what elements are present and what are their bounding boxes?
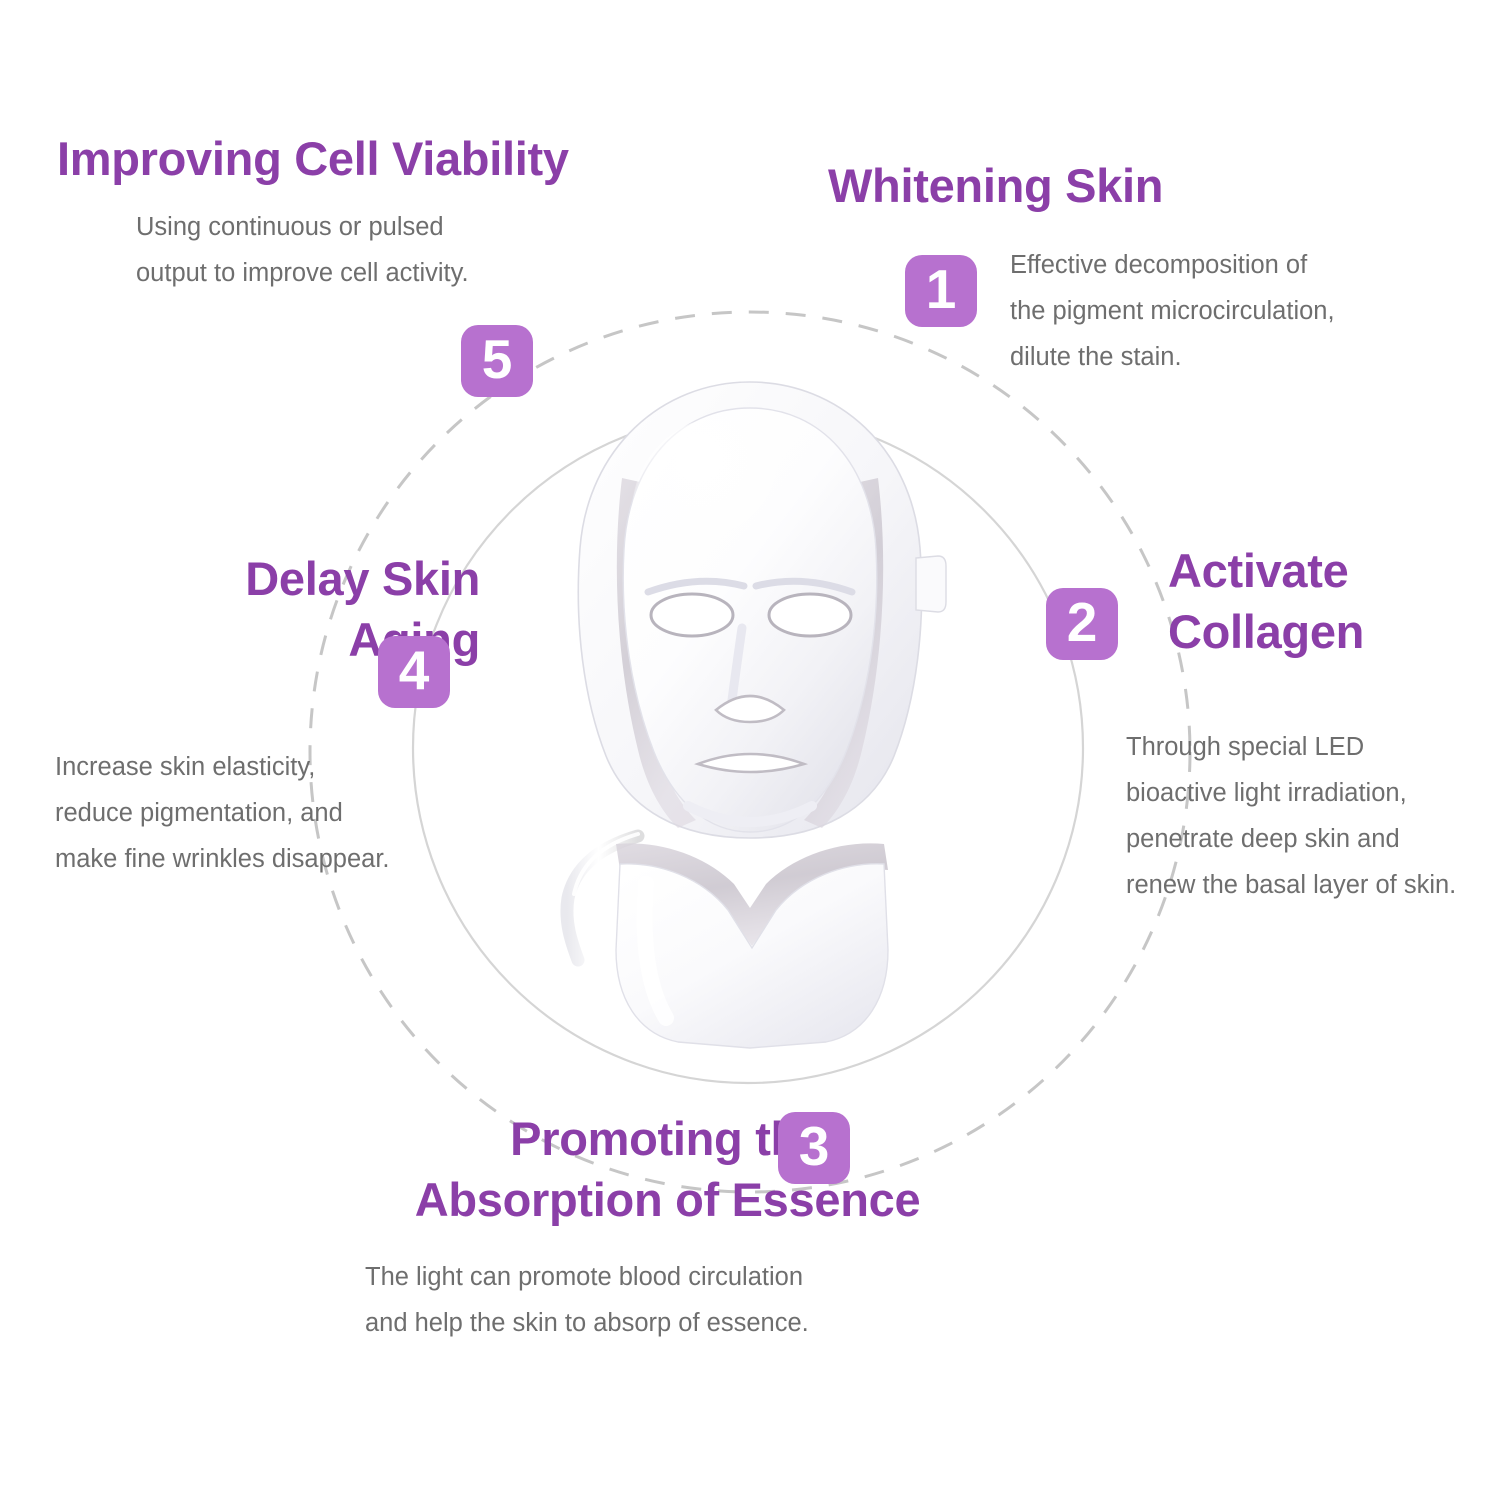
feature-title-promoting-absorption-of-essence: Promoting the Absorption of Essence <box>330 1108 1005 1230</box>
feature-body-activate-collagen: Through special LED bioactive light irra… <box>1126 725 1456 909</box>
feature-badge-5: 5 <box>461 325 533 397</box>
feature-badge-4: 4 <box>378 636 450 708</box>
feature-body-promoting-absorption-of-essence: The light can promote blood circulation … <box>365 1255 809 1347</box>
feature-badge-1: 1 <box>905 255 977 327</box>
feature-body-delay-skin-aging: Increase skin elasticity, reduce pigment… <box>55 745 390 883</box>
eye-hole-right <box>769 594 851 636</box>
neck-panel <box>616 864 888 1048</box>
eye-hole-left <box>651 594 733 636</box>
feature-body-whitening-skin: Effective decomposition of the pigment m… <box>1010 243 1335 381</box>
infographic-page: Improving Cell Viability Using continuou… <box>0 0 1500 1500</box>
feature-title-improving-cell-viability: Improving Cell Viability <box>57 128 569 189</box>
feature-badge-3: 3 <box>778 1112 850 1184</box>
feature-body-improving-cell-viability: Using continuous or pulsed output to imp… <box>136 205 469 297</box>
product-image-led-mask <box>520 370 980 1050</box>
feature-badge-2: 2 <box>1046 588 1118 660</box>
feature-title-activate-collagen: Activate Collagen <box>1168 540 1364 662</box>
feature-title-whitening-skin: Whitening Skin <box>828 155 1163 216</box>
mask-side-tab <box>916 556 946 612</box>
